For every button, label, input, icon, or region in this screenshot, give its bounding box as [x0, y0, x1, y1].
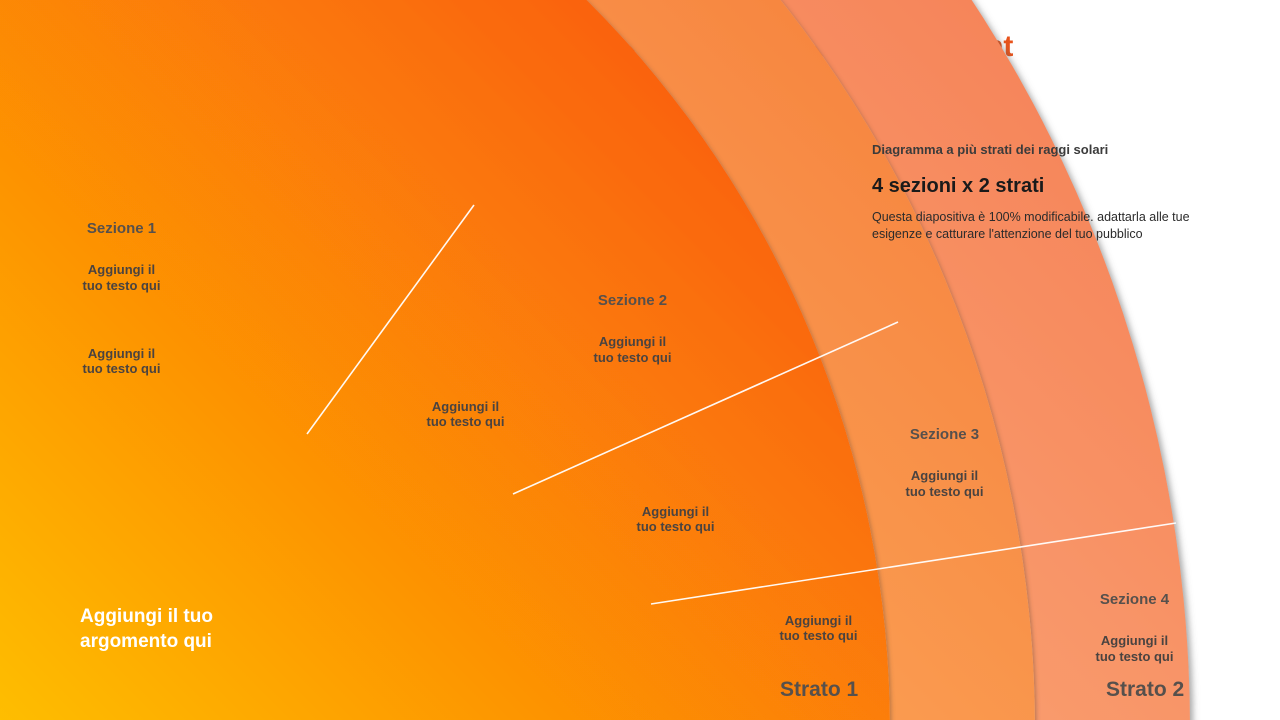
info-panel-kicker: Diagramma a più strati dei raggi solari — [872, 142, 1202, 157]
info-panel-body: Questa diapositiva è 100% modificabile. … — [872, 209, 1202, 243]
layer-label-strato-1: Strato 1 — [780, 678, 858, 702]
core-topic-label: Aggiungi il tuo argomento qui — [80, 605, 213, 654]
layer-label-strato-2: Strato 2 — [1106, 678, 1184, 702]
info-panel-heading: 4 sezioni x 2 strati — [872, 175, 1202, 198]
info-panel: Diagramma a più strati dei raggi solari … — [872, 142, 1202, 243]
slide-canvas: Diagramma a più strati di raggi solari p… — [0, 0, 1280, 720]
